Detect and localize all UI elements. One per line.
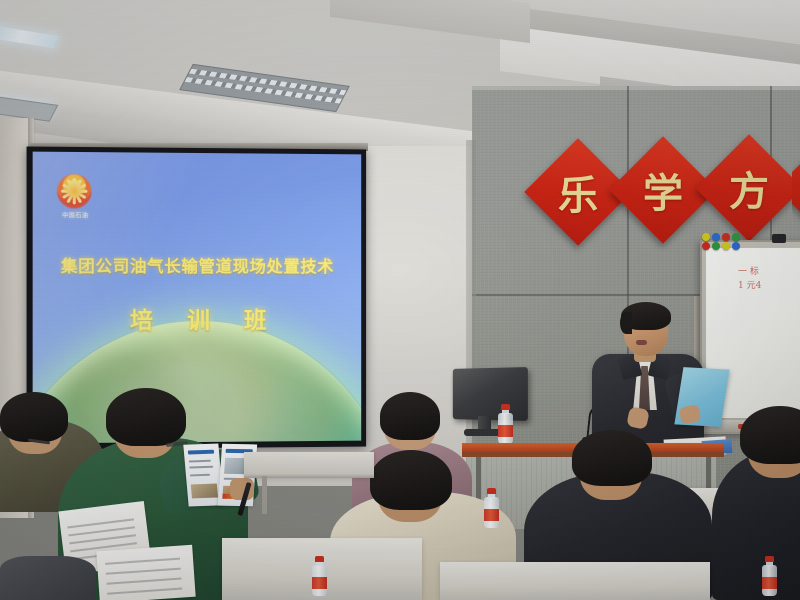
whiteboard-magnet-icon [702,233,710,241]
whiteboard-magnet-icon [732,242,740,250]
slide-subtitle: 培 训 班 [33,301,362,335]
booklet-text-line [189,460,211,463]
whiteboard-note-line-2: 1 元4 [738,280,800,293]
booklet-text-line [189,466,213,469]
attendee-hair [380,392,440,440]
water-bottle [762,556,777,596]
whiteboard-magnet-icon [712,242,720,250]
whiteboard-magnet-icon [732,233,740,241]
desk-leg [262,476,267,514]
water-bottle [484,488,499,528]
printed-papers [96,545,195,600]
attendee-hair [572,430,652,486]
whiteboard-magnet-icon [722,233,730,241]
wall-banner-diamond: 方 [695,134,800,241]
slide-logo-caption: 中国石油 [51,210,100,219]
attendee-desk [440,562,710,600]
stone-wall-top-edge [472,86,800,90]
whiteboard-clip-icon [772,234,786,243]
slide-title: 集团公司油气长输管道现场处置技术 [33,253,362,278]
presenter-hair-side [620,312,632,334]
water-bottle [312,556,327,596]
booklet-color-band [188,450,214,455]
banner-character: 习 [792,150,800,226]
wall-banner-diamond-partial: 习 [792,150,800,226]
banner-character: 乐 [540,154,616,230]
booklet-text-line [190,474,210,477]
whiteboard-magnet-icon [722,242,730,250]
attendee-desk [244,452,374,476]
ceiling-coffer [330,0,530,43]
attendee-shoulder-foreground [0,556,96,600]
attendee-hair [370,450,452,510]
wall-banner-diamond: 习 [792,150,800,226]
banner-character: 方 [711,150,787,226]
whiteboard-magnet-icon [712,233,720,241]
water-bottle [498,404,513,444]
whiteboard-magnet-icon [702,242,710,250]
recessed-light-icon [0,25,59,48]
whiteboard-magnets [702,233,746,251]
attendee-hair [106,388,186,446]
banner-character: 学 [625,152,701,228]
attendee-dark-suit-right [712,420,800,600]
petrochina-sun-logo [57,174,91,208]
conference-room-photo: 乐 学 方 习 中国石油 集团公司油气长输管道现场处置技术 培 训 班 一 [0,0,800,600]
presenter-mouth [636,340,647,345]
booklet-photo [191,484,218,499]
whiteboard-note-line-1: 一 标 [738,266,800,279]
